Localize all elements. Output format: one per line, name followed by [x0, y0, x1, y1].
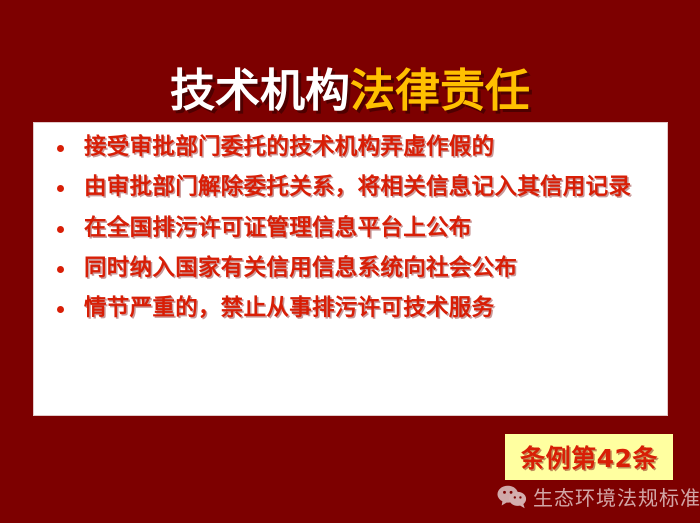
list-item: 情节严重的，禁止从事排污许可技术服务 — [48, 294, 655, 323]
list-item: 同时纳入国家有关信用信息系统向社会公布 — [48, 254, 655, 283]
list-item: 接受审批部门委托的技术机构弄虚作假的 — [48, 133, 655, 162]
page-title: 技术机构法律责任 — [0, 68, 700, 113]
bullet-dot-icon — [57, 306, 64, 313]
watermark: 生态环境法规标准 — [497, 482, 700, 511]
list-item: 在全国排污许可证管理信息平台上公布 — [48, 214, 655, 243]
bullet-list: 接受审批部门委托的技术机构弄虚作假的 由审批部门解除委托关系，将相关信息记入其信… — [48, 133, 655, 323]
bullet-dot-icon — [57, 145, 64, 152]
title-white-segment: 技术机构 — [170, 64, 350, 117]
title-gold-segment: 法律责任 — [350, 64, 530, 117]
bullet-dot-icon — [57, 226, 64, 233]
badge-label: 条例第42条 — [520, 439, 658, 475]
status-badge: 条例第42条 — [505, 434, 673, 480]
watermark-label: 生态环境法规标准 — [533, 482, 700, 511]
bullet-dot-icon — [57, 266, 64, 273]
list-item-label: 由审批部门解除委托关系，将相关信息记入其信用记录 — [84, 174, 631, 200]
list-item: 由审批部门解除委托关系，将相关信息记入其信用记录 — [48, 173, 655, 202]
wechat-icon — [497, 484, 527, 510]
content-panel: 接受审批部门委托的技术机构弄虚作假的 由审批部门解除委托关系，将相关信息记入其信… — [33, 122, 668, 416]
list-item-label: 接受审批部门委托的技术机构弄虚作假的 — [84, 134, 494, 160]
list-item-label: 情节严重的，禁止从事排污许可技术服务 — [84, 295, 494, 321]
slide-canvas: 技术机构法律责任 接受审批部门委托的技术机构弄虚作假的 由审批部门解除委托关系，… — [0, 0, 700, 523]
bullet-dot-icon — [57, 185, 64, 192]
list-item-label: 在全国排污许可证管理信息平台上公布 — [84, 215, 472, 241]
list-item-label: 同时纳入国家有关信用信息系统向社会公布 — [84, 255, 517, 281]
